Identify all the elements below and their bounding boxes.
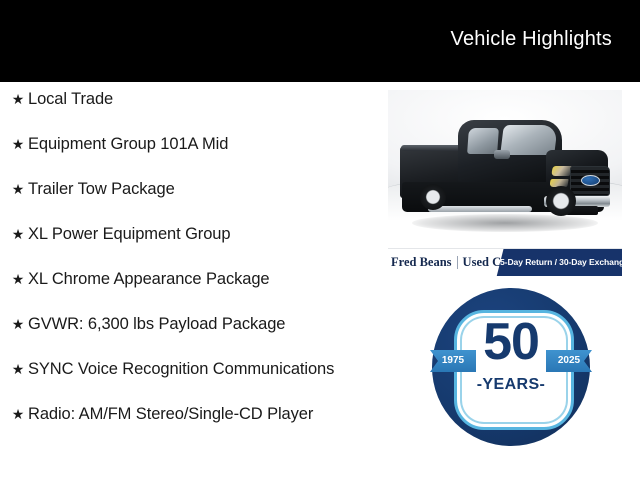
star-icon: ★ [8,268,28,290]
list-item-label: Local Trade [28,88,380,110]
star-icon: ★ [8,403,28,425]
dealer-name-primary: Fred Beans [391,255,452,270]
list-item: ★ Trailer Tow Package [8,178,380,200]
star-icon: ★ [8,223,28,245]
list-item-label: XL Chrome Appearance Package [28,268,380,290]
rear-wheel [420,184,446,210]
promo-label: 5-Day Return / 30-Day Exchange [500,257,622,267]
badge-years-label: -YEARS- [432,376,590,394]
list-item-label: XL Power Equipment Group [28,223,380,245]
list-item: ★ Local Trade [8,88,380,110]
list-item: ★ Radio: AM/FM Stereo/Single-CD Player [8,403,380,425]
running-board [428,206,532,212]
vehicle-highlights-slide: Vehicle Highlights ★ Local Trade ★ Equip… [0,0,640,480]
dealer-branding-bar: Fred Beans Used Cars 5-Day Return / 30-D… [388,248,622,276]
truck-shadow [412,214,598,232]
list-item-label: SYNC Voice Recognition Communications [28,358,380,380]
list-item: ★ XL Power Equipment Group [8,223,380,245]
anniversary-badge: 50 -YEARS- 1975 2025 [432,288,590,446]
list-item-label: Trailer Tow Package [28,178,380,200]
headlight-upper [551,166,572,176]
pickup-truck-illustration [398,110,612,236]
star-icon: ★ [8,313,28,335]
list-item: ★ Equipment Group 101A Mid [8,133,380,155]
list-item: ★ GVWR: 6,300 lbs Payload Package [8,313,380,335]
page-title: Vehicle Highlights [451,28,612,51]
list-item: ★ SYNC Voice Recognition Communications [8,358,380,380]
ford-badge-icon [581,175,600,186]
star-icon: ★ [8,178,28,200]
side-mirror [494,150,510,159]
star-icon: ★ [8,133,28,155]
star-icon: ★ [8,358,28,380]
logo-divider [457,256,458,269]
list-item-label: Radio: AM/FM Stereo/Single-CD Player [28,403,380,425]
star-icon: ★ [8,88,28,110]
vehicle-photo: Fred Beans Used Cars 5-Day Return / 30-D… [388,90,622,276]
list-item: ★ XL Chrome Appearance Package [8,268,380,290]
front-wheel [546,186,576,216]
list-item-label: GVWR: 6,300 lbs Payload Package [28,313,380,335]
list-item-label: Equipment Group 101A Mid [28,133,380,155]
vehicle-highlights-list: ★ Local Trade ★ Equipment Group 101A Mid… [8,88,380,448]
photo-studio-background [388,90,622,248]
